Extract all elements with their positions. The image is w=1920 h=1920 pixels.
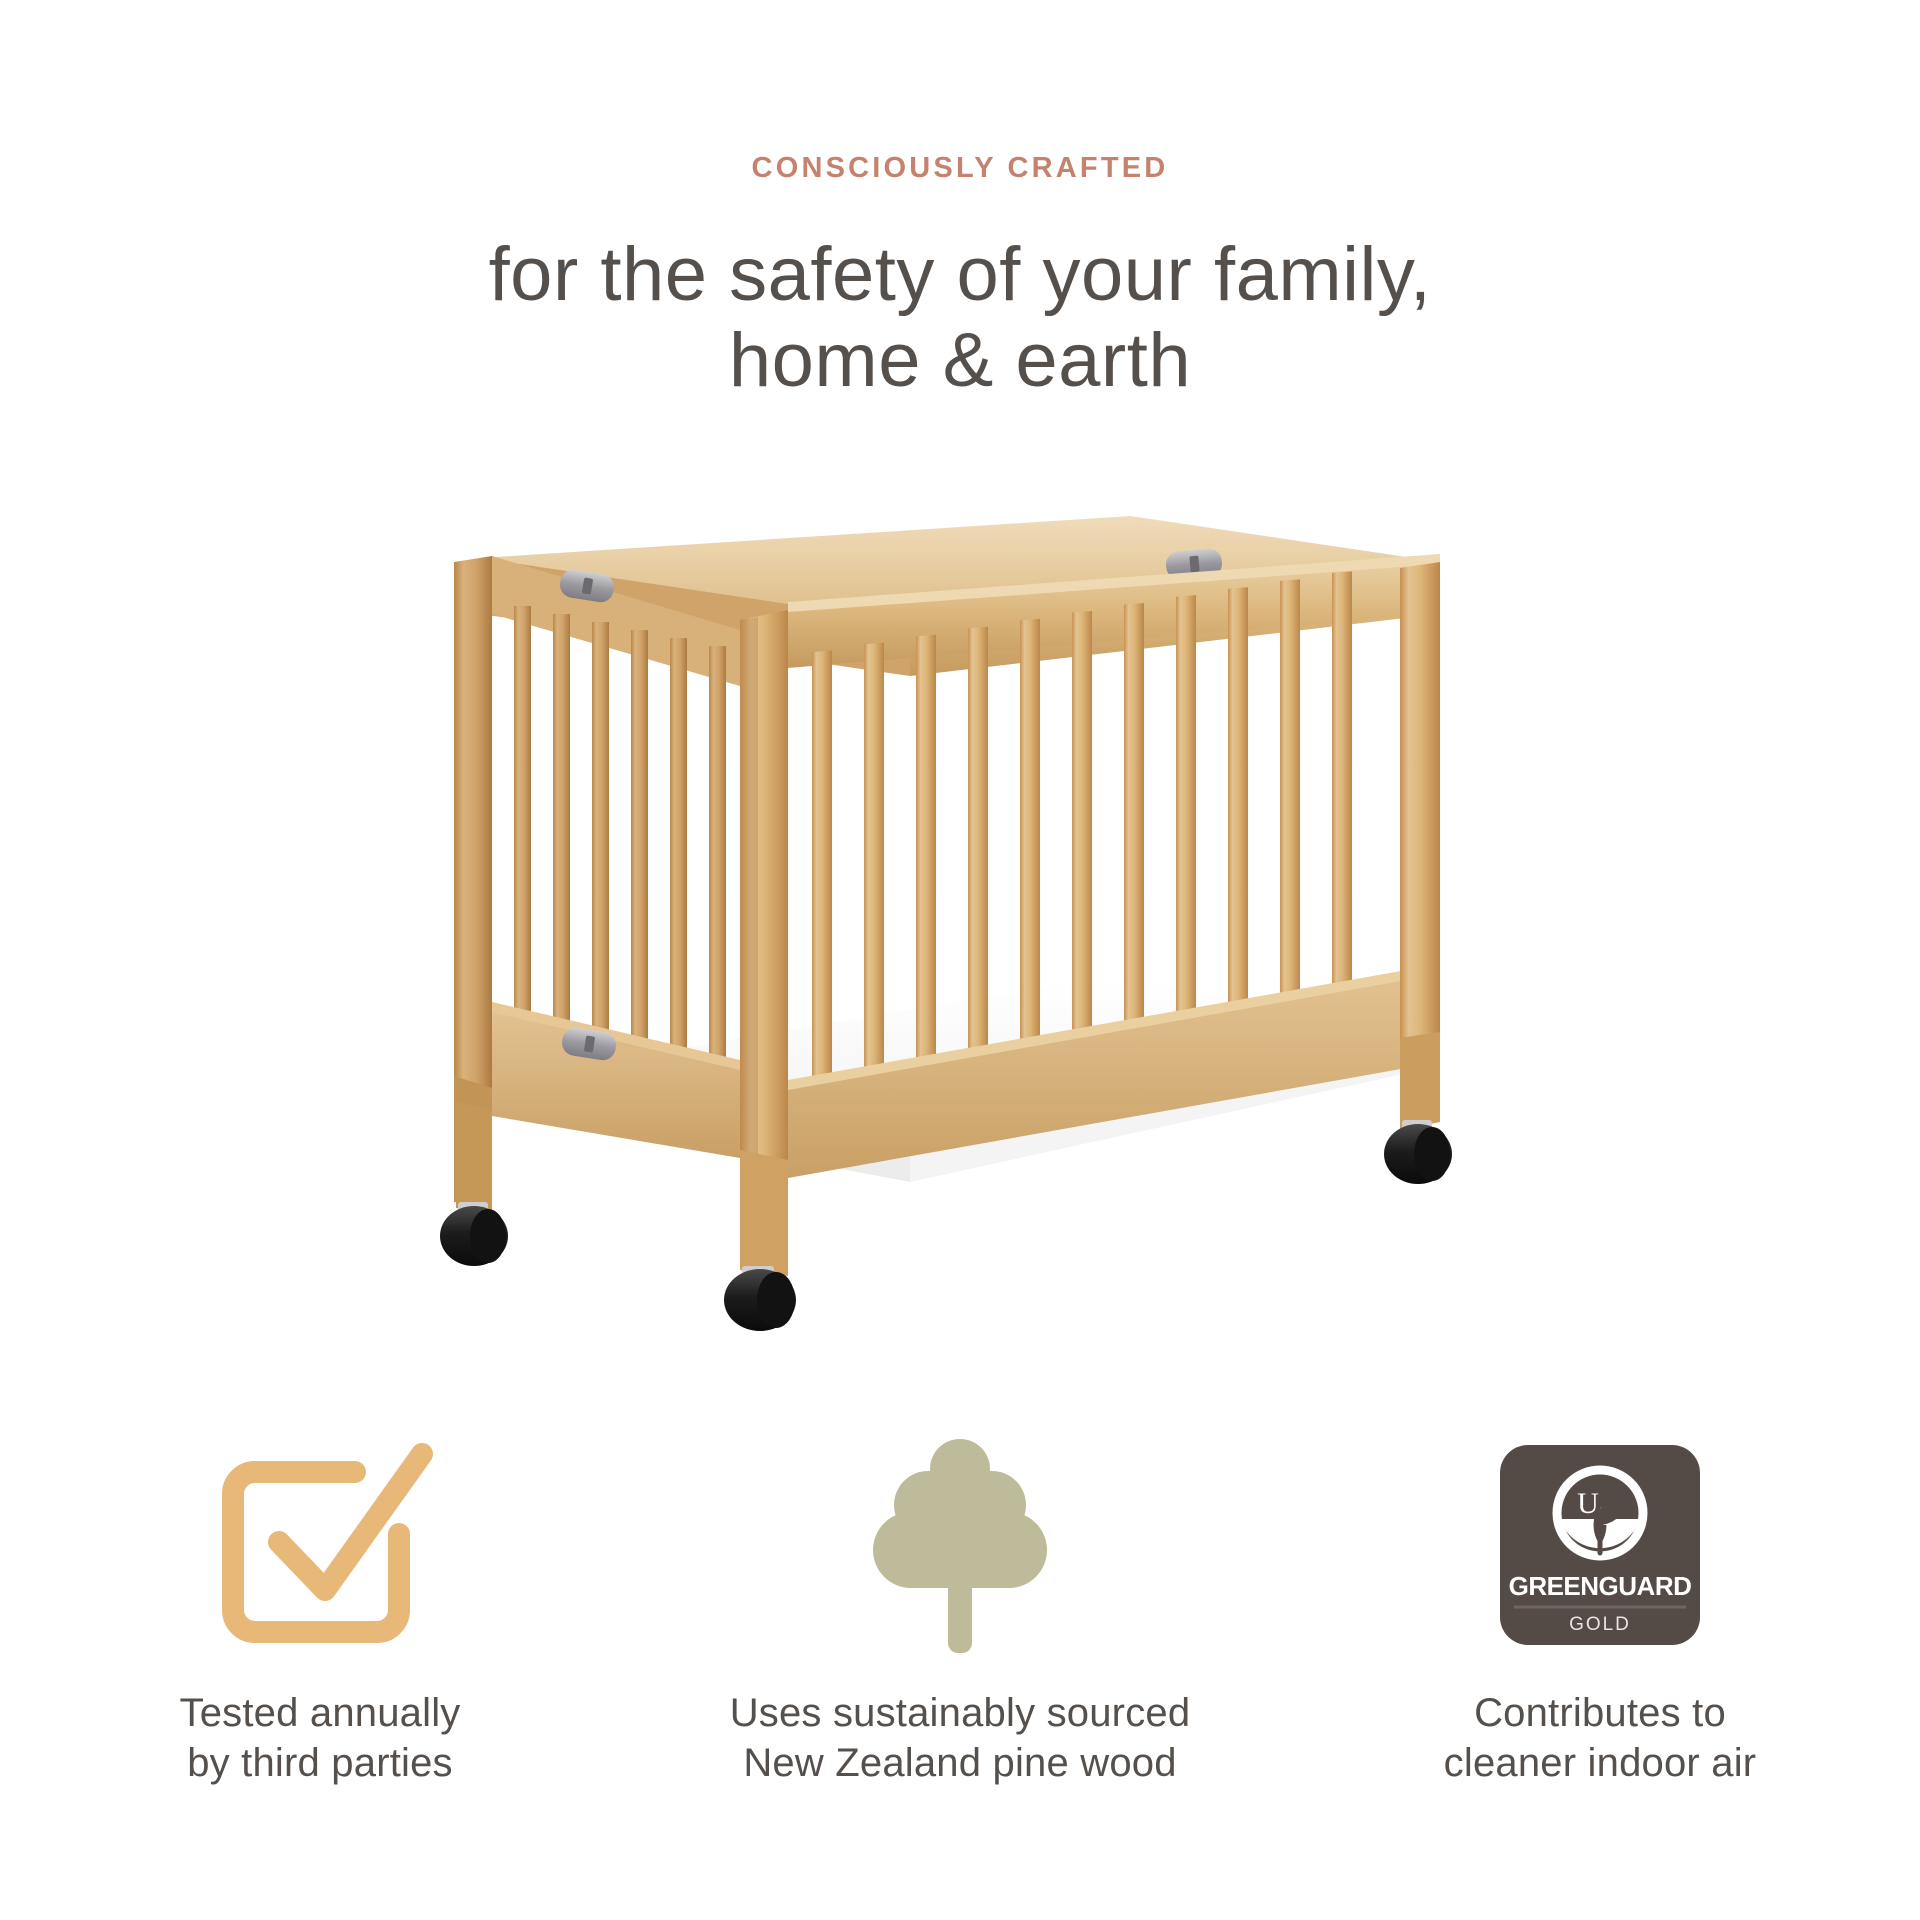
feature-label-line-1: Tested annually	[180, 1691, 461, 1735]
headline-line-1: for the safety of your family,	[489, 232, 1432, 317]
feature-label-line-2: New Zealand pine wood	[730, 1738, 1191, 1788]
crib-leg-right	[1400, 1032, 1440, 1130]
feature-label: Tested annually by third parties	[180, 1688, 461, 1788]
feature-item-tested-annually: Tested annually by third parties	[0, 1420, 640, 1788]
greenguard-gold-badge-icon: UL U L GREENGUARD GOLD	[1500, 1420, 1700, 1670]
feature-item-sustainable-wood: Uses sustainably sourced New Zealand pin…	[640, 1420, 1280, 1788]
caster-wheel-icon	[1384, 1120, 1452, 1184]
feature-label-line-2: cleaner indoor air	[1444, 1738, 1757, 1788]
feature-label-line-1: Uses sustainably sourced	[730, 1691, 1191, 1735]
ul-letter-u: U	[1577, 1487, 1599, 1520]
feature-label-line-2: by third parties	[180, 1738, 461, 1788]
crib-leg-center	[740, 1150, 788, 1276]
badge-title: GREENGUARD	[1509, 1571, 1692, 1601]
crib-illustration	[440, 510, 1460, 1390]
caster-wheel-icon	[440, 1202, 508, 1266]
feature-item-greenguard: UL U L GREENGUARD GOLD Contri	[1280, 1420, 1920, 1788]
promo-page: CONSCIOUSLY CRAFTED for the safety of yo…	[0, 0, 1920, 1920]
checkbox-check-icon	[203, 1420, 438, 1670]
crib-left-panel	[454, 556, 740, 1208]
headline-line-2: home & earth	[0, 318, 1920, 404]
badge-tier: GOLD	[1569, 1614, 1631, 1635]
crib-center-post	[740, 610, 788, 1216]
product-image	[440, 510, 1460, 1390]
feature-label: Contributes to cleaner indoor air	[1444, 1688, 1757, 1788]
page-title: for the safety of your family, home & ea…	[0, 232, 1920, 404]
feature-label: Uses sustainably sourced New Zealand pin…	[730, 1688, 1191, 1788]
crib-leg-left	[456, 1102, 492, 1214]
eyebrow-text: CONSCIOUSLY CRAFTED	[0, 152, 1920, 185]
feature-label-line-1: Contributes to	[1474, 1691, 1726, 1735]
feature-list: Tested annually by third parties	[0, 1420, 1920, 1788]
tree-icon	[873, 1420, 1048, 1670]
ul-leaf-mark-icon: UL U L	[1557, 1470, 1643, 1556]
caster-wheel-icon	[724, 1266, 796, 1331]
